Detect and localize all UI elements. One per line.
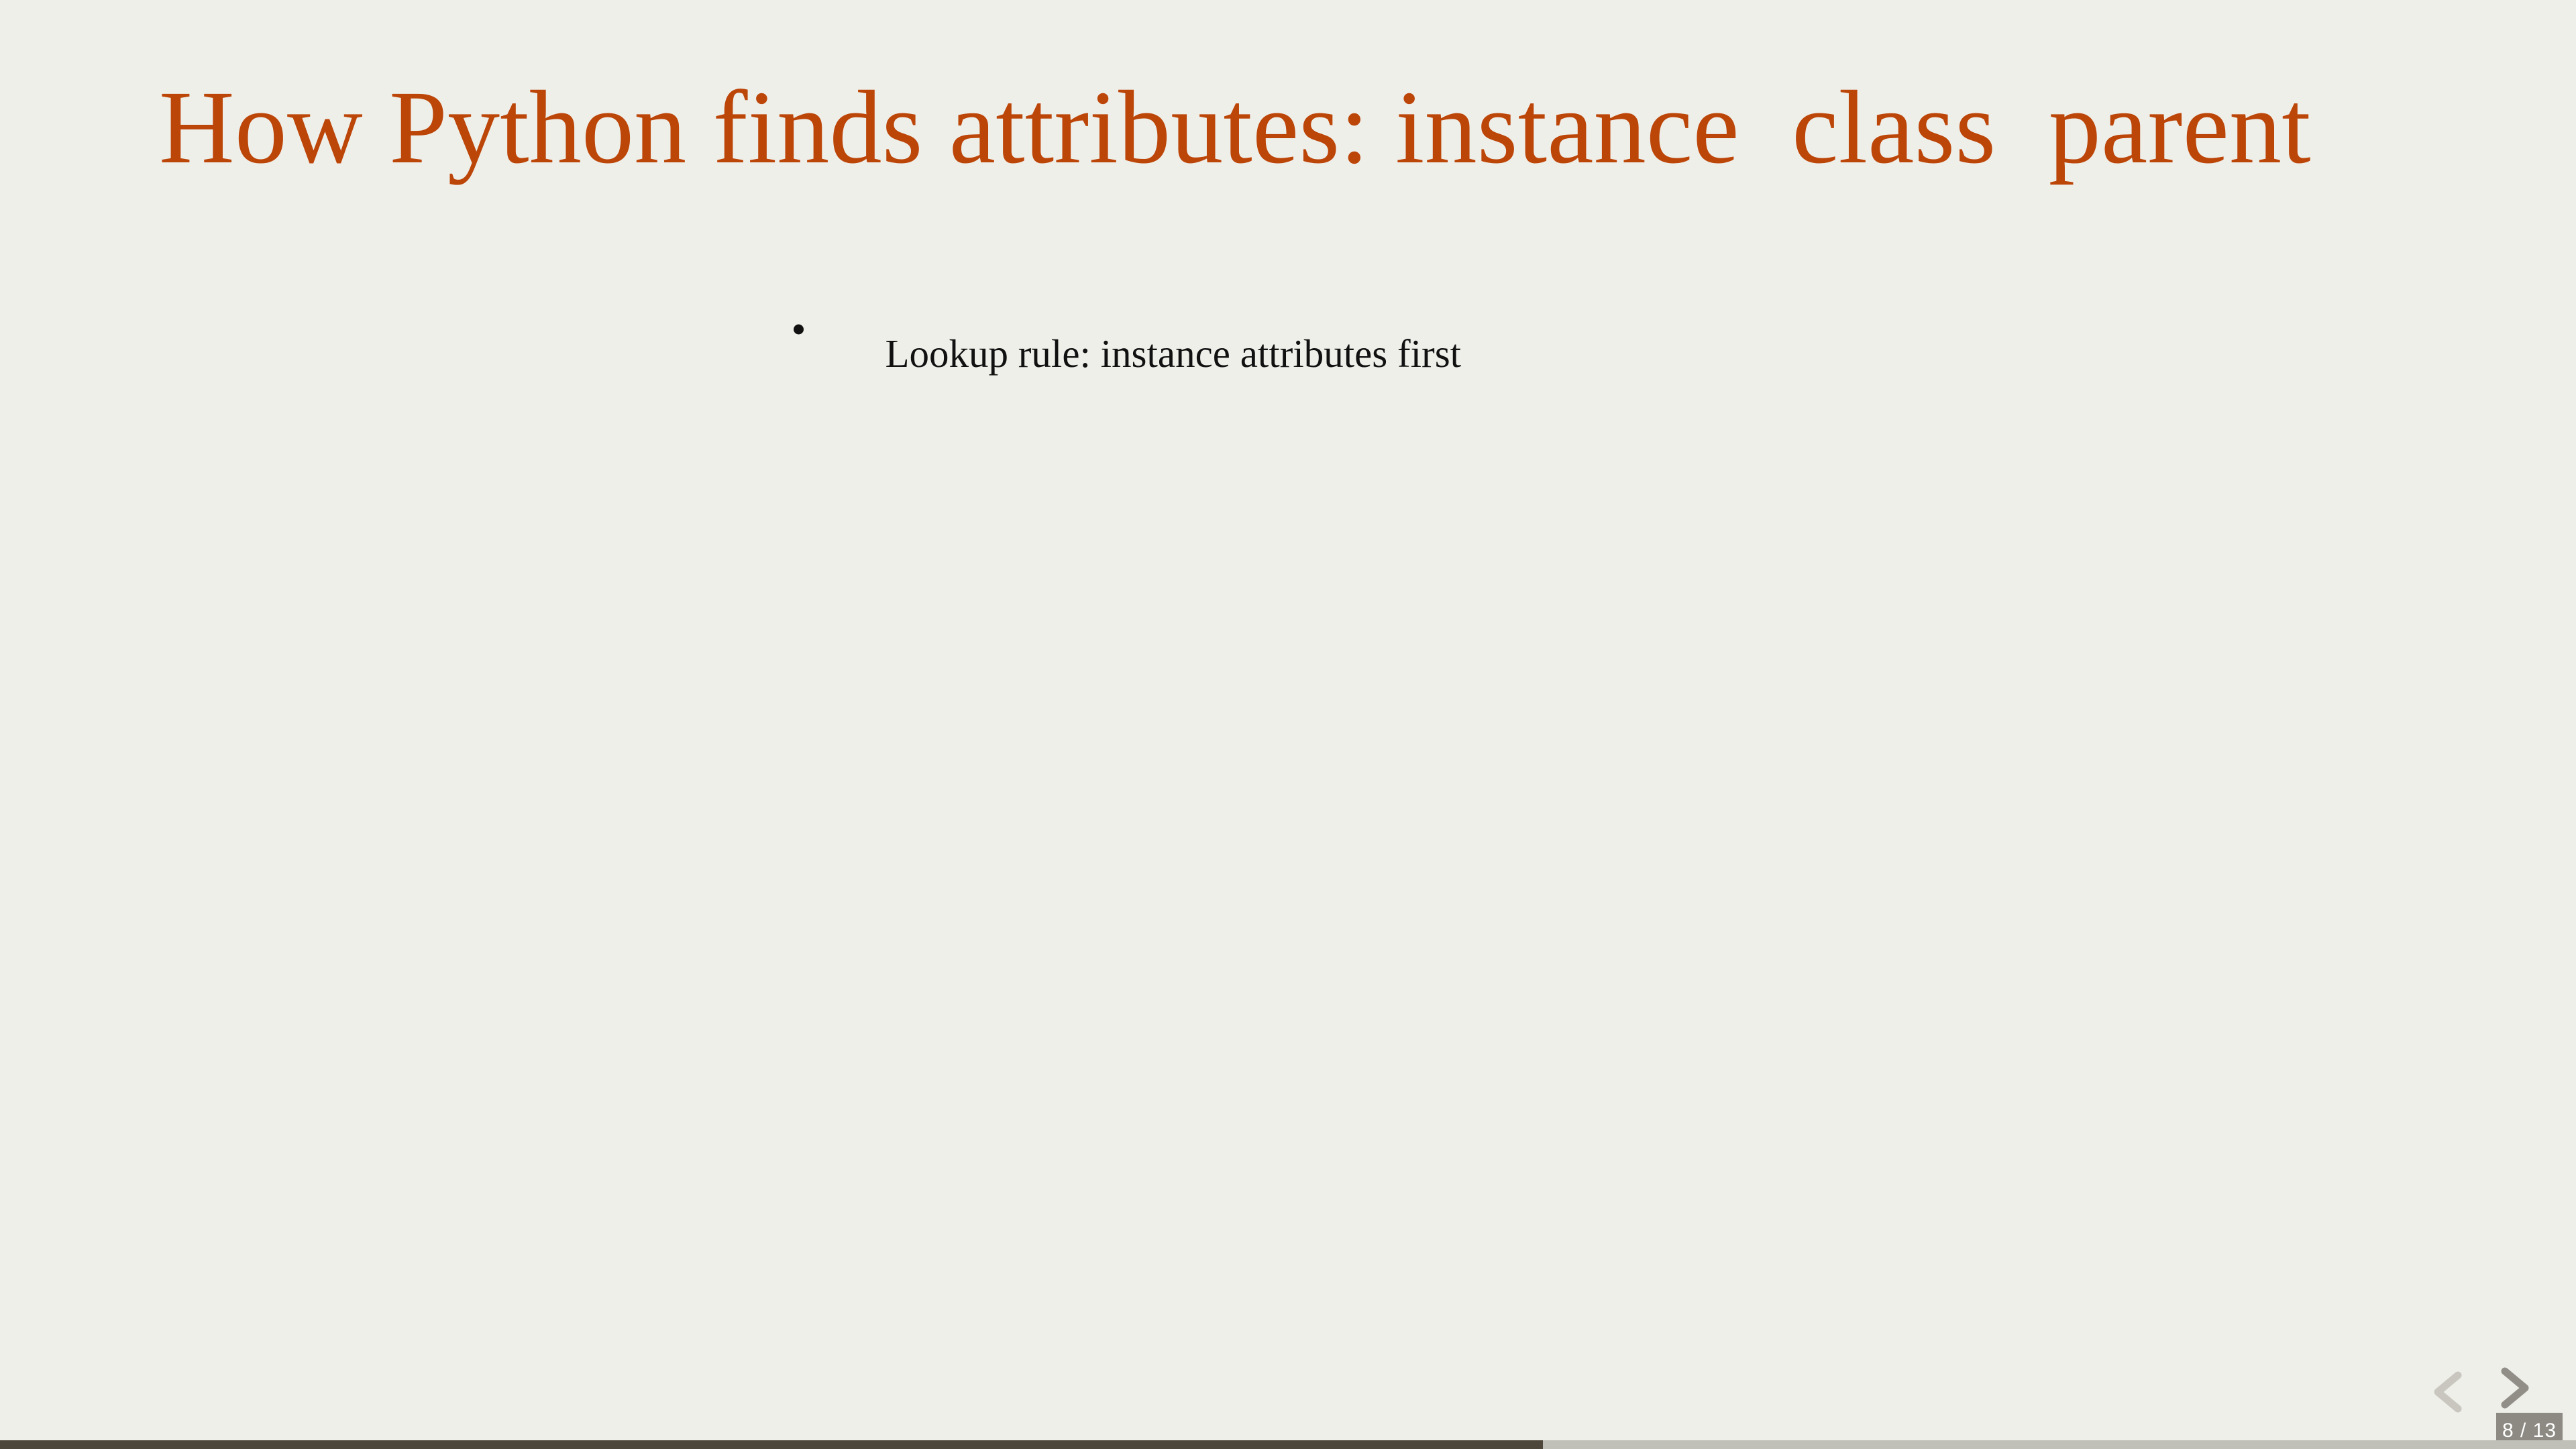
presentation-slide: How Python finds attributes: instance cl… bbox=[0, 0, 2576, 1449]
bullet-list: Lookup rule: instance attributes first bbox=[794, 230, 1461, 428]
next-slide-button[interactable] bbox=[2487, 1362, 2540, 1414]
bullet-point-icon bbox=[794, 324, 804, 334]
slide-navigation-controls: 8 / 13 bbox=[2408, 1356, 2576, 1444]
slide-progress-fill bbox=[0, 1440, 1543, 1449]
previous-slide-button[interactable] bbox=[2423, 1366, 2475, 1418]
slide-progress-bar[interactable] bbox=[0, 1440, 2576, 1449]
chevron-left-icon bbox=[2423, 1366, 2475, 1418]
list-item: Lookup rule: instance attributes first bbox=[794, 230, 1461, 428]
chevron-right-icon bbox=[2487, 1362, 2540, 1414]
slide-title: How Python finds attributes: instance cl… bbox=[159, 72, 2440, 182]
bullet-item-label: Lookup rule: instance attributes first bbox=[885, 331, 1462, 376]
